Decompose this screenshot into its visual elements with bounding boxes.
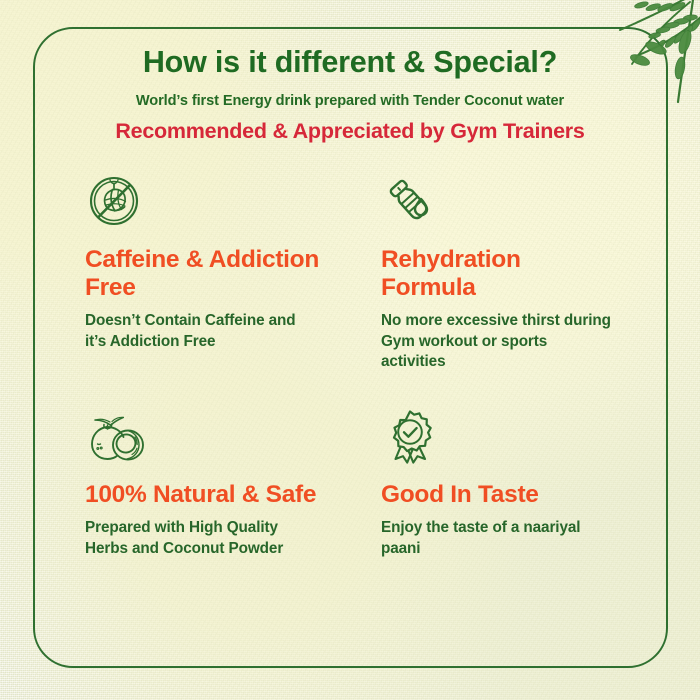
feature-rehydration: Rehydration Formula No more excessive th… <box>381 172 625 407</box>
page-tagline: Recommended & Appreciated by Gym Trainer… <box>0 120 700 144</box>
feature-title: 100% Natural & Safe <box>85 481 325 509</box>
coconut-icon <box>85 407 381 465</box>
feature-title: Rehydration Formula <box>381 246 621 302</box>
feature-description: Prepared with High Quality Herbs and Coc… <box>85 518 317 559</box>
feature-caffeine-free: Caffeine & Addiction Free Doesn’t Contai… <box>85 172 381 407</box>
feature-title: Good In Taste <box>381 481 621 509</box>
feature-description: No more excessive thirst during Gym work… <box>381 311 613 372</box>
feature-natural-safe: 100% Natural & Safe Prepared with High Q… <box>85 407 381 559</box>
feature-grid: Caffeine & Addiction Free Doesn’t Contai… <box>85 172 625 559</box>
no-caffeine-icon <box>85 172 381 230</box>
feature-good-taste: Good In Taste Enjoy the taste of a naari… <box>381 407 625 559</box>
page-title: How is it different & Special? <box>0 46 700 80</box>
feature-description: Enjoy the taste of a naariyal paani <box>381 518 613 559</box>
page-subtitle: World’s first Energy drink prepared with… <box>0 93 700 109</box>
header-block: How is it different & Special? World’s f… <box>0 46 700 143</box>
water-bottle-droplet-icon <box>381 172 625 230</box>
feature-description: Doesn’t Contain Caffeine and it’s Addict… <box>85 311 317 352</box>
promo-poster: How is it different & Special? World’s f… <box>0 0 700 700</box>
feature-title: Caffeine & Addiction Free <box>85 246 325 302</box>
quality-badge-check-icon <box>381 407 625 465</box>
